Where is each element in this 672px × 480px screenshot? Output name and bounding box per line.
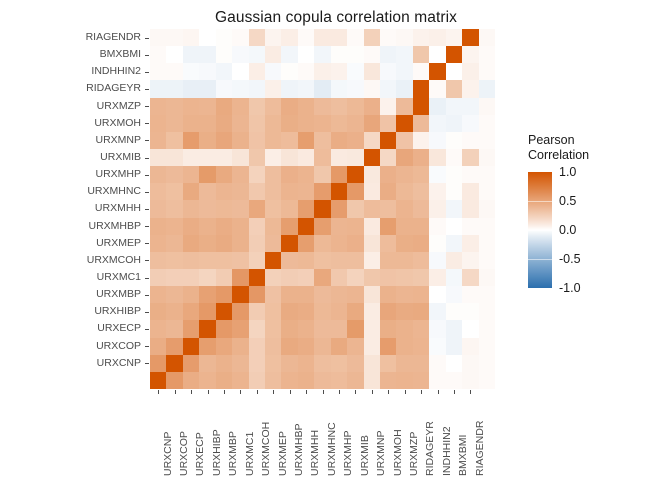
heatmap-cell — [429, 29, 445, 46]
heatmap-cell — [314, 372, 330, 389]
heatmap-cell — [380, 320, 396, 337]
heatmap-cell — [446, 372, 462, 389]
heatmap-cell — [462, 63, 478, 80]
heatmap-cell — [281, 63, 297, 80]
heatmap-cell — [347, 286, 363, 303]
heatmap-cell — [380, 98, 396, 115]
heatmap-cell — [446, 200, 462, 217]
heatmap-cell — [199, 252, 215, 269]
heatmap-cell — [216, 286, 232, 303]
legend-tick-label: 0.0 — [559, 224, 576, 237]
legend-gridline — [528, 230, 552, 231]
heatmap-cell — [462, 252, 478, 269]
x-axis-label: URXECP — [183, 396, 199, 478]
y-axis-tick — [145, 363, 149, 364]
heatmap-cell — [298, 338, 314, 355]
heatmap-cell — [265, 80, 281, 97]
heatmap-cell — [462, 286, 478, 303]
heatmap-cell — [216, 235, 232, 252]
heatmap-cell — [380, 46, 396, 63]
heatmap-cell — [216, 149, 232, 166]
heatmap-cell — [331, 115, 347, 132]
y-axis-tick — [145, 55, 149, 56]
heatmap-cell — [380, 149, 396, 166]
heatmap-cell — [232, 338, 248, 355]
heatmap-cell — [166, 200, 182, 217]
heatmap-cell — [166, 269, 182, 286]
heatmap-cell — [380, 269, 396, 286]
y-axis-tick — [145, 192, 149, 193]
heatmap-cell — [199, 218, 215, 235]
heatmap-cell — [150, 29, 166, 46]
heatmap-cell — [265, 372, 281, 389]
legend-tick-label: 1.0 — [559, 166, 576, 179]
heatmap-cell — [298, 149, 314, 166]
heatmap-cell — [462, 303, 478, 320]
x-axis-label: URXMHH — [298, 396, 314, 478]
heatmap-cell — [199, 132, 215, 149]
heatmap-cell — [429, 320, 445, 337]
heatmap-cell — [364, 98, 380, 115]
x-axis-label: URXMBP — [216, 396, 232, 478]
heatmap-cell — [314, 149, 330, 166]
heatmap-cell — [396, 132, 412, 149]
heatmap-cell — [232, 200, 248, 217]
heatmap-cell — [265, 355, 281, 372]
heatmap-cell — [429, 166, 445, 183]
heatmap-cell — [446, 115, 462, 132]
heatmap-cell — [479, 235, 495, 252]
heatmap-cell — [462, 29, 478, 46]
heatmap-cell — [281, 149, 297, 166]
heatmap-cell — [281, 218, 297, 235]
heatmap-cell — [298, 200, 314, 217]
heatmap-cell — [479, 338, 495, 355]
x-axis-label: RIAGENDR — [462, 396, 478, 478]
x-axis-tick — [438, 390, 439, 394]
heatmap-cell — [281, 303, 297, 320]
y-axis-tick — [145, 278, 149, 279]
heatmap-cell — [298, 29, 314, 46]
heatmap-cell — [183, 115, 199, 132]
heatmap-cell — [331, 149, 347, 166]
heatmap-cell — [298, 372, 314, 389]
heatmap-cell — [265, 218, 281, 235]
heatmap-cell — [479, 200, 495, 217]
heatmap-cell — [347, 46, 363, 63]
heatmap-cell — [232, 320, 248, 337]
y-axis-tick — [145, 89, 149, 90]
x-axis-label: URXHIBP — [199, 396, 215, 478]
heatmap-cell — [216, 200, 232, 217]
heatmap-cell — [396, 218, 412, 235]
heatmap-cell — [216, 372, 232, 389]
y-axis-label: URXMHP — [0, 166, 143, 183]
heatmap-cell — [479, 166, 495, 183]
heatmap-cell — [347, 149, 363, 166]
heatmap-cell — [462, 46, 478, 63]
heatmap-cell — [413, 303, 429, 320]
x-axis-label: URXMHBP — [281, 396, 297, 478]
heatmap-cell — [446, 132, 462, 149]
x-axis-tick — [290, 390, 291, 394]
heatmap-cell — [281, 355, 297, 372]
heatmap-cell — [249, 355, 265, 372]
heatmap-cell — [429, 372, 445, 389]
heatmap-cell — [183, 46, 199, 63]
y-axis-label: URXMZP — [0, 98, 143, 115]
heatmap-cell — [281, 235, 297, 252]
heatmap-cell — [462, 338, 478, 355]
heatmap-cell — [413, 115, 429, 132]
heatmap-cell — [364, 149, 380, 166]
heatmap-cell — [396, 303, 412, 320]
heatmap-cell — [314, 98, 330, 115]
heatmap-cell — [347, 98, 363, 115]
heatmap-cell — [396, 80, 412, 97]
heatmap-cell — [479, 252, 495, 269]
heatmap-cell — [298, 218, 314, 235]
heatmap-cell — [364, 303, 380, 320]
heatmap-cell — [216, 218, 232, 235]
heatmap-cell — [479, 303, 495, 320]
heatmap-cell — [331, 29, 347, 46]
heatmap-cell — [265, 269, 281, 286]
page-title: Gaussian copula correlation matrix — [0, 9, 672, 27]
x-axis-label: URXMC1 — [232, 396, 248, 478]
heatmap-cell — [413, 80, 429, 97]
y-axis-label: BMXBMI — [0, 46, 143, 63]
heatmap-cell — [396, 252, 412, 269]
heatmap-cell — [429, 252, 445, 269]
heatmap-cell — [364, 320, 380, 337]
heatmap-cell — [150, 132, 166, 149]
heatmap-cell — [347, 235, 363, 252]
heatmap-panel[interactable] — [150, 29, 495, 389]
heatmap-cell — [364, 183, 380, 200]
heatmap-cell — [232, 286, 248, 303]
heatmap-cell — [380, 132, 396, 149]
heatmap-cell — [331, 166, 347, 183]
heatmap-cell — [413, 286, 429, 303]
heatmap-cell — [413, 218, 429, 235]
y-axis-tick — [145, 175, 149, 176]
heatmap-cell — [249, 218, 265, 235]
heatmap-cell — [298, 80, 314, 97]
x-axis-labels: URXCNPURXCOPURXECPURXHIBPURXMBPURXMC1URX… — [150, 396, 495, 478]
heatmap-cell — [150, 200, 166, 217]
heatmap-cell — [249, 166, 265, 183]
heatmap-cell — [380, 235, 396, 252]
heatmap-cell — [298, 286, 314, 303]
heatmap-cell — [380, 183, 396, 200]
heatmap-cell — [446, 29, 462, 46]
heatmap-cell — [380, 200, 396, 217]
heatmap-cell — [396, 320, 412, 337]
heatmap-cell — [380, 115, 396, 132]
heatmap-cell — [249, 320, 265, 337]
heatmap-cell — [413, 338, 429, 355]
heatmap-cell — [446, 80, 462, 97]
heatmap-cell — [429, 149, 445, 166]
heatmap-cell — [183, 63, 199, 80]
heatmap-cell — [413, 355, 429, 372]
heatmap-cell — [462, 372, 478, 389]
heatmap-cell — [249, 149, 265, 166]
heatmap-grid — [150, 29, 495, 389]
heatmap-cell — [462, 149, 478, 166]
y-axis-label: URXMHBP — [0, 218, 143, 235]
x-axis-tick — [405, 390, 406, 394]
heatmap-cell — [150, 320, 166, 337]
heatmap-cell — [380, 252, 396, 269]
y-axis-label: URXMHNC — [0, 183, 143, 200]
heatmap-cell — [249, 115, 265, 132]
heatmap-cell — [166, 286, 182, 303]
y-axis-label: URXMOH — [0, 115, 143, 132]
heatmap-cell — [281, 98, 297, 115]
heatmap-cell — [479, 269, 495, 286]
legend-title: Pearson Correlation — [528, 133, 589, 163]
heatmap-cell — [331, 269, 347, 286]
heatmap-cell — [199, 80, 215, 97]
heatmap-cell — [183, 252, 199, 269]
heatmap-cell — [462, 115, 478, 132]
heatmap-cell — [150, 149, 166, 166]
heatmap-cell — [314, 183, 330, 200]
heatmap-cell — [249, 29, 265, 46]
heatmap-cell — [265, 29, 281, 46]
heatmap-cell — [479, 286, 495, 303]
heatmap-cell — [298, 166, 314, 183]
heatmap-cell — [216, 29, 232, 46]
heatmap-cell — [249, 252, 265, 269]
heatmap-cell — [331, 355, 347, 372]
heatmap-cell — [364, 269, 380, 286]
heatmap-cell — [216, 63, 232, 80]
heatmap-cell — [429, 235, 445, 252]
heatmap-cell — [331, 98, 347, 115]
heatmap-cell — [462, 218, 478, 235]
heatmap-cell — [183, 166, 199, 183]
y-axis-label: RIDAGEYR — [0, 80, 143, 97]
heatmap-cell — [166, 98, 182, 115]
heatmap-cell — [265, 303, 281, 320]
heatmap-cell — [281, 338, 297, 355]
heatmap-cell — [446, 218, 462, 235]
heatmap-cell — [396, 372, 412, 389]
heatmap-cell — [249, 269, 265, 286]
heatmap-cell — [380, 218, 396, 235]
heatmap-cell — [265, 200, 281, 217]
heatmap-cell — [166, 149, 182, 166]
heatmap-cell — [265, 132, 281, 149]
heatmap-cell — [347, 218, 363, 235]
heatmap-cell — [298, 132, 314, 149]
y-axis-tick — [145, 72, 149, 73]
heatmap-cell — [232, 218, 248, 235]
heatmap-cell — [199, 29, 215, 46]
x-axis-label-text: RIAGENDR — [475, 421, 486, 476]
heatmap-cell — [396, 269, 412, 286]
heatmap-cell — [232, 115, 248, 132]
legend-title-line-2: Correlation — [528, 148, 589, 163]
heatmap-cell — [150, 46, 166, 63]
heatmap-cell — [347, 303, 363, 320]
heatmap-cell — [199, 269, 215, 286]
heatmap-cell — [314, 252, 330, 269]
heatmap-cell — [462, 166, 478, 183]
heatmap-cell — [298, 252, 314, 269]
heatmap-cell — [199, 235, 215, 252]
heatmap-cell — [199, 303, 215, 320]
y-axis-tick — [145, 106, 149, 107]
heatmap-cell — [298, 46, 314, 63]
y-axis-tick — [145, 260, 149, 261]
heatmap-cell — [183, 286, 199, 303]
heatmap-cell — [396, 29, 412, 46]
heatmap-cell — [232, 183, 248, 200]
heatmap-cell — [347, 372, 363, 389]
heatmap-cell — [216, 80, 232, 97]
heatmap-cell — [183, 235, 199, 252]
heatmap-cell — [396, 63, 412, 80]
heatmap-cell — [429, 63, 445, 80]
heatmap-cell — [479, 149, 495, 166]
x-axis-tick — [273, 390, 274, 394]
heatmap-cell — [249, 286, 265, 303]
heatmap-cell — [347, 183, 363, 200]
heatmap-cell — [364, 286, 380, 303]
heatmap-cell — [166, 372, 182, 389]
heatmap-cell — [462, 355, 478, 372]
y-axis-tick — [145, 329, 149, 330]
heatmap-cell — [314, 355, 330, 372]
heatmap-cell — [380, 166, 396, 183]
heatmap-cell — [298, 63, 314, 80]
heatmap-cell — [364, 63, 380, 80]
heatmap-cell — [331, 132, 347, 149]
heatmap-cell — [281, 80, 297, 97]
y-axis-tick — [145, 312, 149, 313]
legend-tick-label: -0.5 — [559, 253, 581, 266]
heatmap-cell — [314, 235, 330, 252]
heatmap-cell — [183, 132, 199, 149]
heatmap-cell — [281, 269, 297, 286]
x-axis-tick — [470, 390, 471, 394]
heatmap-cell — [216, 303, 232, 320]
heatmap-cell — [429, 132, 445, 149]
heatmap-cell — [183, 200, 199, 217]
heatmap-cell — [462, 269, 478, 286]
heatmap-cell — [150, 372, 166, 389]
heatmap-cell — [479, 63, 495, 80]
heatmap-cell — [462, 183, 478, 200]
heatmap-cell — [199, 115, 215, 132]
heatmap-cell — [199, 166, 215, 183]
heatmap-cell — [380, 338, 396, 355]
x-axis-tick — [240, 390, 241, 394]
heatmap-cell — [249, 200, 265, 217]
x-axis-label: INDHHIN2 — [429, 396, 445, 478]
heatmap-cell — [396, 200, 412, 217]
heatmap-cell — [199, 320, 215, 337]
heatmap-cell — [166, 115, 182, 132]
heatmap-cell — [331, 235, 347, 252]
heatmap-cell — [396, 235, 412, 252]
y-axis-tick — [145, 226, 149, 227]
heatmap-cell — [216, 320, 232, 337]
heatmap-cell — [166, 80, 182, 97]
x-axis-label: URXCOP — [166, 396, 182, 478]
heatmap-cell — [298, 355, 314, 372]
heatmap-cell — [281, 132, 297, 149]
heatmap-cell — [396, 149, 412, 166]
heatmap-cell — [331, 183, 347, 200]
heatmap-cell — [347, 320, 363, 337]
heatmap-cell — [347, 338, 363, 355]
x-axis-tick — [175, 390, 176, 394]
heatmap-cell — [166, 183, 182, 200]
heatmap-cell — [347, 355, 363, 372]
heatmap-cell — [413, 98, 429, 115]
y-axis-label: RIAGENDR — [0, 29, 143, 46]
heatmap-cell — [347, 269, 363, 286]
y-axis-label: URXMCOH — [0, 252, 143, 269]
heatmap-cell — [396, 183, 412, 200]
heatmap-cell — [150, 355, 166, 372]
heatmap-cell — [216, 115, 232, 132]
heatmap-cell — [183, 355, 199, 372]
heatmap-cell — [232, 149, 248, 166]
heatmap-cell — [199, 200, 215, 217]
heatmap-cell — [429, 338, 445, 355]
heatmap-cell — [232, 46, 248, 63]
heatmap-cell — [429, 200, 445, 217]
heatmap-cell — [347, 29, 363, 46]
heatmap-cell — [166, 29, 182, 46]
heatmap-cell — [446, 63, 462, 80]
heatmap-cell — [446, 252, 462, 269]
heatmap-cell — [166, 320, 182, 337]
heatmap-cell — [249, 46, 265, 63]
heatmap-cell — [314, 166, 330, 183]
heatmap-cell — [479, 355, 495, 372]
heatmap-cell — [249, 132, 265, 149]
heatmap-cell — [281, 46, 297, 63]
heatmap-cell — [314, 286, 330, 303]
heatmap-cell — [446, 149, 462, 166]
heatmap-cell — [249, 98, 265, 115]
y-axis-tick — [145, 346, 149, 347]
heatmap-cell — [364, 252, 380, 269]
heatmap-cell — [413, 269, 429, 286]
heatmap-cell — [364, 80, 380, 97]
heatmap-cell — [446, 46, 462, 63]
heatmap-cell — [446, 303, 462, 320]
heatmap-cell — [199, 46, 215, 63]
heatmap-cell — [429, 286, 445, 303]
heatmap-cell — [331, 200, 347, 217]
heatmap-cell — [364, 29, 380, 46]
heatmap-cell — [347, 252, 363, 269]
heatmap-cell — [380, 372, 396, 389]
heatmap-cell — [216, 252, 232, 269]
heatmap-cell — [314, 218, 330, 235]
heatmap-cell — [166, 355, 182, 372]
heatmap-cell — [462, 132, 478, 149]
heatmap-cell — [462, 80, 478, 97]
